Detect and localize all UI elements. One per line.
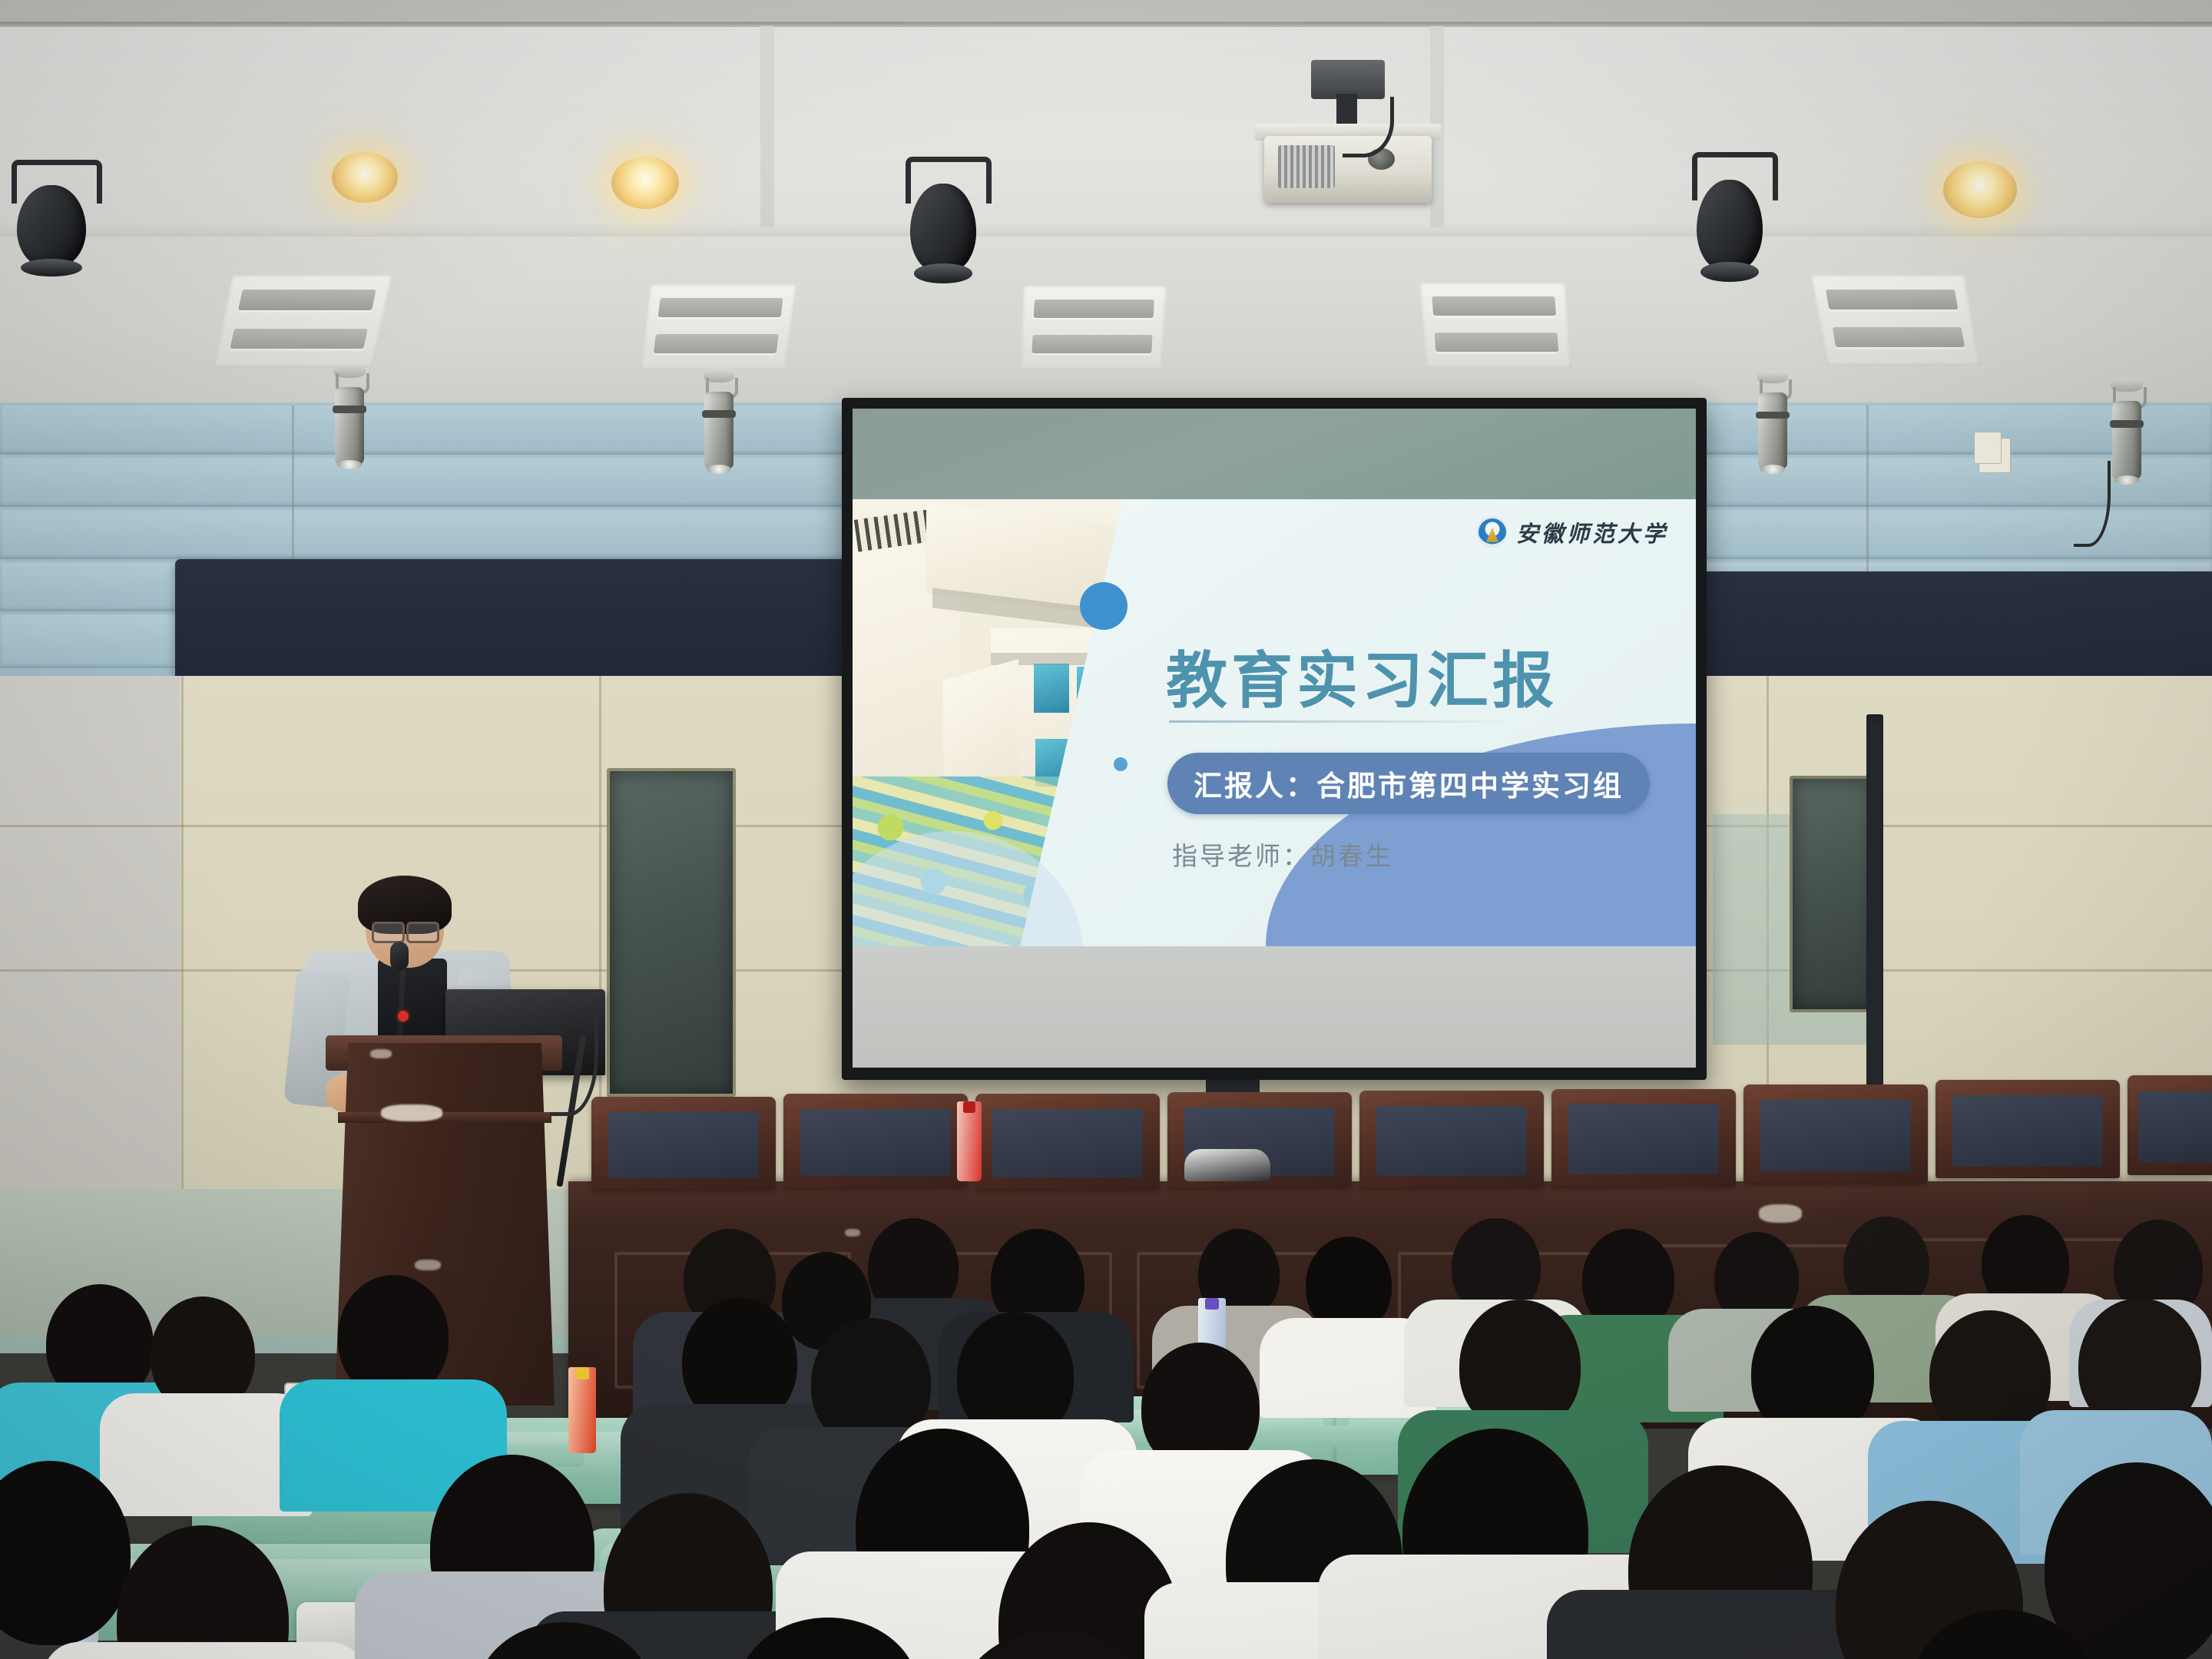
cylinder-light-icon [321, 364, 378, 469]
stage-chair[interactable] [1936, 1080, 2120, 1178]
downlight-icon [332, 152, 398, 203]
stage-reflection [845, 1229, 860, 1237]
ceiling-beam [0, 224, 2212, 237]
podium-reflection [381, 1104, 442, 1121]
glass-panel [607, 768, 736, 1097]
desk-device[interactable] [1184, 1149, 1270, 1181]
stage-chair[interactable] [2128, 1075, 2212, 1175]
stage-chair[interactable] [1551, 1089, 1736, 1186]
microphone-indicator [398, 1011, 409, 1022]
downlight-icon [1943, 161, 2017, 218]
wall-grey-section [0, 676, 180, 1214]
stage-chair[interactable] [1743, 1084, 1928, 1183]
air-vent-icon [1419, 283, 1571, 369]
downlight-icon [611, 157, 679, 209]
stage-chair[interactable] [591, 1097, 776, 1189]
air-vent-icon [1811, 275, 1981, 366]
stage-reflection [1759, 1204, 1802, 1223]
stage-chair[interactable] [1359, 1091, 1544, 1187]
cylinder-light-icon [1745, 370, 1800, 473]
projection-screen: 安徽师范大学 教育实习汇报 汇报人：合肥市第四中学实习组 指导老师：胡春生 [842, 398, 1707, 1080]
cylinder-light-icon [691, 369, 747, 473]
stage-chair[interactable] [975, 1094, 1160, 1189]
stage-chair[interactable] [783, 1094, 968, 1187]
spotlight-icon [1687, 152, 1773, 278]
air-vent-icon [1019, 286, 1167, 370]
water-bottle[interactable] [568, 1367, 596, 1453]
air-vent-icon [640, 284, 796, 370]
university-logo-text: 安徽师范大学 [1516, 516, 1668, 548]
slide-advisor-line: 指导老师：胡春生 [1172, 836, 1393, 873]
slide-title-rule [1169, 720, 1501, 723]
glass-panel [1790, 776, 1879, 1012]
audience-body [43, 1642, 366, 1659]
slide-accent-dot-small [1114, 757, 1128, 771]
wall-plate [1974, 432, 2002, 464]
water-bottle[interactable] [957, 1101, 982, 1181]
podium-reflection [415, 1260, 441, 1270]
air-vent-icon [213, 275, 392, 367]
ceiling-beam-vertical [760, 26, 774, 227]
spotlight-icon [900, 157, 986, 280]
university-emblem-icon [1477, 517, 1508, 548]
screen-dead-zone-top [853, 409, 1696, 499]
podium-reflection [370, 1049, 392, 1058]
podium-shelf [338, 1112, 551, 1123]
microphone-icon [390, 942, 409, 971]
slide-decor-circle [853, 831, 1083, 946]
presentation-slide: 安徽师范大学 教育实习汇报 汇报人：合肥市第四中学实习组 指导老师：胡春生 [853, 499, 1696, 946]
wall-recess [1866, 714, 1883, 1098]
ceiling-seam [0, 22, 2212, 27]
eyeglasses-icon [372, 922, 439, 939]
wall-seam [181, 676, 184, 1214]
lecture-hall-photo: 安徽师范大学 教育实习汇报 汇报人：合肥市第四中学实习组 指导老师：胡春生 [0, 0, 2212, 1659]
spotlight-icon [6, 160, 97, 273]
slide-accent-dot [1080, 582, 1128, 630]
slide-title: 教育实习汇报 [1166, 631, 1558, 720]
screen-dead-zone-bottom [853, 946, 1696, 1068]
university-logo: 安徽师范大学 [1477, 516, 1668, 548]
slide-presenter-pill: 汇报人：合肥市第四中学实习组 [1167, 753, 1650, 814]
